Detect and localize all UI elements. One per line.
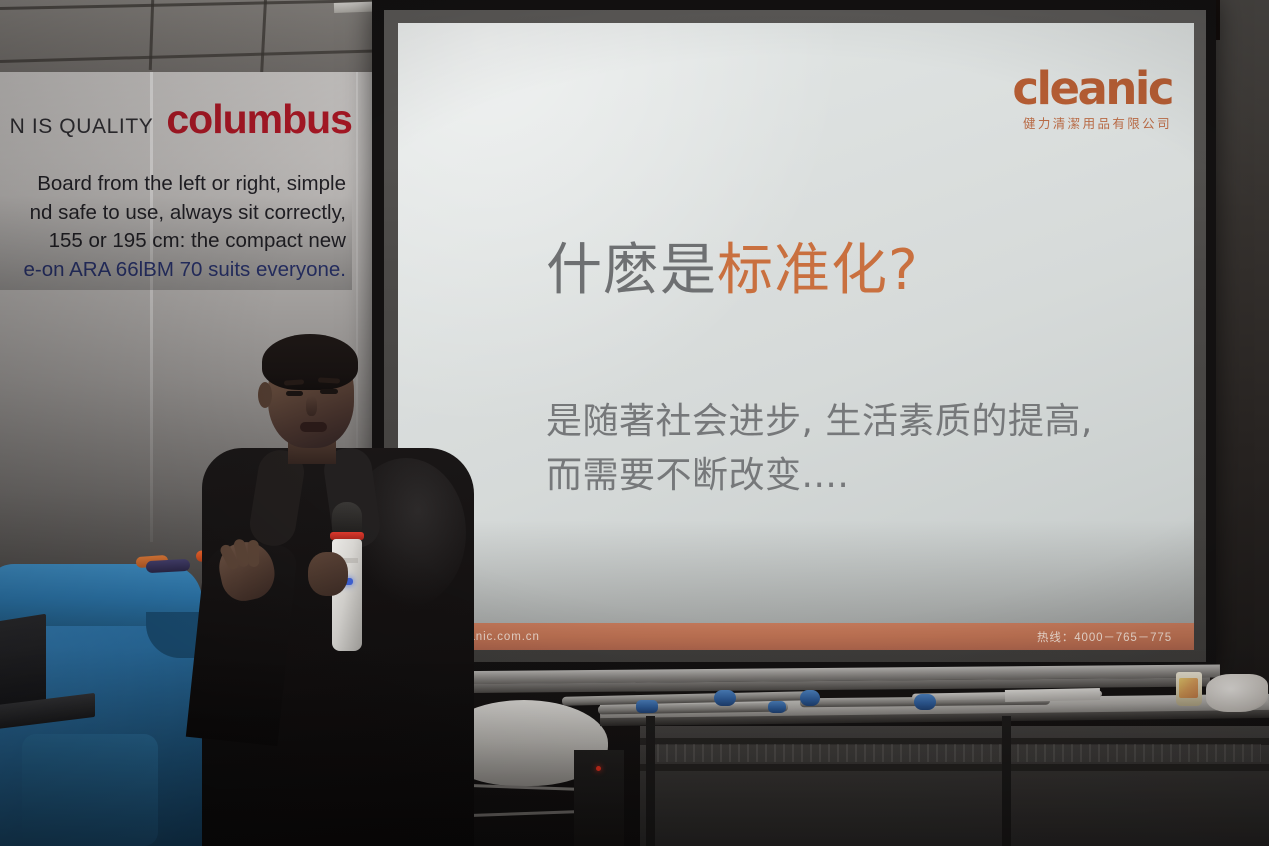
table-leg <box>646 716 655 846</box>
projection-screen: cleanic 健力清潔用品有限公司 什麽是标准化? 是随著社会进步, 生活素质… <box>372 0 1216 672</box>
poster-line: 155 or 195 cm: the compact new <box>0 227 346 256</box>
slide-surface: cleanic 健力清潔用品有限公司 什麽是标准化? 是随著社会进步, 生活素质… <box>398 23 1194 650</box>
logo-subtitle: 健力清潔用品有限公司 <box>1012 113 1172 132</box>
rolled-paper <box>1005 688 1100 702</box>
presenter-nose <box>306 396 317 416</box>
table-perforated-strip <box>648 744 1261 762</box>
ceiling-grid-line <box>260 0 267 76</box>
presenter-eyebrow <box>318 377 340 383</box>
cleanic-logo: cleanic 健力清潔用品有限公司 <box>1012 67 1172 132</box>
pc-tower <box>574 750 624 846</box>
poster-brand-wordmark: columbus <box>166 96 352 143</box>
slide-title-gray: 什麽是 <box>546 238 717 303</box>
poster-tagline: N IS QUALITY <box>10 115 154 139</box>
blue-connector <box>914 694 936 710</box>
right-wall <box>1216 0 1269 700</box>
cup-graphic <box>1179 678 1198 698</box>
poster-body-text: Board from the left or right, simple nd … <box>0 170 356 284</box>
poster-line-model: e-on ARA 66lBM 70 suits everyone. <box>0 256 346 285</box>
slide-body-line: 而需要不断改变.... <box>546 449 1093 503</box>
ceiling-grid-line <box>0 0 380 10</box>
table-rail <box>640 764 1269 771</box>
presenter-finger <box>248 540 260 567</box>
poster-header: N IS QUALITY columbus <box>0 96 362 143</box>
footer-hotline: 热线：4000－765－775 <box>1037 629 1172 645</box>
blue-connector <box>800 690 820 706</box>
lectern-panel <box>22 734 158 846</box>
presenter-eye <box>286 391 303 396</box>
presentation-photo: N IS QUALITY columbus Board from the lef… <box>0 0 1269 846</box>
blue-connector <box>636 700 658 713</box>
columbus-poster: N IS QUALITY columbus Board from the lef… <box>0 80 352 290</box>
ceiling <box>0 0 380 82</box>
poster-line: nd safe to use, always sit correctly, <box>0 199 346 228</box>
blue-connector <box>768 701 786 713</box>
presenter-eye <box>320 389 338 394</box>
presenter <box>196 330 486 846</box>
white-cloth <box>1206 674 1268 712</box>
blue-connector <box>714 690 736 706</box>
slide-title-orange: 标准化? <box>717 238 919 303</box>
microphone-head <box>332 502 362 536</box>
presenter-mouth <box>300 422 327 432</box>
marker-pen <box>146 559 191 573</box>
slide-footer-bar: www.cleanic.com.cn 热线：4000－765－775 <box>398 623 1194 650</box>
poster-line: Board from the left or right, simple <box>0 170 346 199</box>
slide-body-line: 是随著社会进步, 生活素质的提高, <box>546 395 1093 449</box>
slide-body: 是随著社会进步, 生活素质的提高, 而需要不断改变.... <box>546 395 1093 503</box>
power-led-icon <box>596 766 601 771</box>
logo-wordmark: cleanic <box>1012 67 1172 111</box>
slide-title: 什麽是标准化? <box>546 239 919 303</box>
presenter-right-hand <box>308 552 348 596</box>
ceiling-grid-line <box>149 0 154 70</box>
presenter-ear <box>258 382 272 408</box>
presenter-hair <box>262 334 358 390</box>
ceiling-grid-line <box>0 49 380 63</box>
table-leg <box>1002 716 1011 846</box>
